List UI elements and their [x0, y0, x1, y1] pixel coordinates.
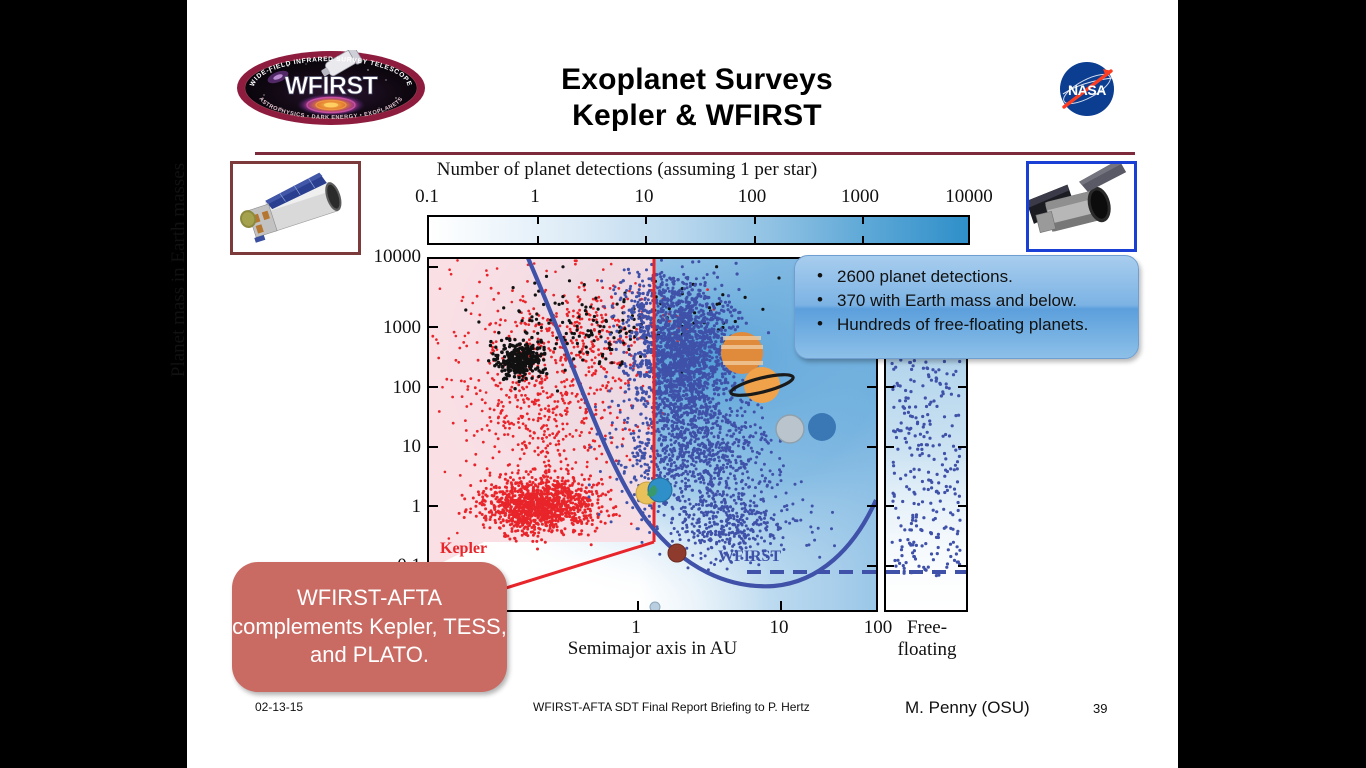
colorbar-tick-0: 0.1 — [415, 186, 439, 208]
planet-mars — [668, 544, 686, 562]
colorbar-tick-3: 100 — [738, 186, 767, 208]
ff-label-line1: Free- — [907, 617, 947, 638]
footer-page: 39 — [1093, 701, 1107, 716]
wfirst-logo-wordmark: WFIRST — [285, 72, 378, 100]
slide-stage: WIDE-FIELD INFRARED SURVEY TELESCOPE AST… — [0, 0, 1366, 768]
blue-callout-item-2: • Hundreds of free-floating planets. — [809, 313, 1126, 337]
y-tick-100: 100 — [393, 377, 422, 399]
colorbar-tick-5: 10000 — [945, 186, 993, 208]
colorbar-tick-2: 10 — [635, 186, 654, 208]
ff-label-line2: floating — [897, 639, 956, 660]
nasa-logo: NASA — [1056, 58, 1118, 120]
blue-callout-box: • 2600 planet detections. • 370 with Ear… — [794, 255, 1139, 359]
header-divider — [255, 152, 1135, 155]
bullet-icon: • — [817, 312, 823, 336]
slide-canvas: WIDE-FIELD INFRARED SURVEY TELESCOPE AST… — [187, 0, 1178, 768]
footer-author: M. Penny (OSU) — [905, 698, 1030, 718]
free-floating-axis-label: Free- floating — [877, 617, 977, 661]
title-line-2: Kepler & WFIRST — [487, 98, 907, 134]
colorbar-tick-1: 1 — [530, 186, 540, 208]
kepler-region-label: Kepler — [440, 540, 487, 558]
wfirst-region-label: WFIRST — [718, 548, 781, 566]
red-callout-text: WFIRST-AFTA complements Kepler, TESS, an… — [232, 584, 507, 670]
footer-center: WFIRST-AFTA SDT Final Report Briefing to… — [533, 700, 810, 714]
bullet-icon: • — [817, 264, 823, 288]
planet-uranus — [776, 415, 804, 443]
blue-callout-list: • 2600 planet detections. • 370 with Ear… — [809, 265, 1126, 337]
wfirst-spacecraft-image — [1026, 161, 1137, 252]
y-axis-label: Planet mass in Earth masses — [168, 140, 190, 400]
colorbar-title: Number of planet detections (assuming 1 … — [287, 159, 967, 181]
planet-neptune — [808, 413, 836, 441]
footer-date: 02-13-15 — [255, 700, 303, 714]
blue-callout-text-1: 370 with Earth mass and below. — [837, 291, 1077, 310]
blue-callout-text-2: Hundreds of free-floating planets. — [837, 315, 1088, 334]
page-title: Exoplanet Surveys Kepler & WFIRST — [487, 62, 907, 134]
bullet-icon: • — [817, 288, 823, 312]
colorbar-tick-4: 1000 — [841, 186, 879, 208]
nasa-logo-text: NASA — [1068, 82, 1106, 98]
y-tick-10: 10 — [402, 436, 421, 458]
blue-callout-item-1: • 370 with Earth mass and below. — [809, 289, 1126, 313]
y-tick-1: 1 — [412, 496, 422, 518]
blue-callout-item-0: • 2600 planet detections. — [809, 265, 1126, 289]
y-tick-1000: 1000 — [383, 317, 421, 339]
red-callout-box: WFIRST-AFTA complements Kepler, TESS, an… — [232, 562, 507, 692]
wfirst-logo: WIDE-FIELD INFRARED SURVEY TELESCOPE AST… — [236, 50, 426, 126]
planet-mercury — [650, 602, 660, 610]
y-tick-10000: 10000 — [374, 246, 422, 268]
colorbar — [427, 215, 970, 245]
blue-callout-text-0: 2600 planet detections. — [837, 267, 1013, 286]
x-tick-10: 10 — [770, 617, 789, 639]
title-line-1: Exoplanet Surveys — [561, 63, 833, 96]
colorbar-tick-labels: 0.1 1 10 100 1000 10000 — [407, 186, 767, 210]
x-tick-1: 1 — [631, 617, 641, 639]
